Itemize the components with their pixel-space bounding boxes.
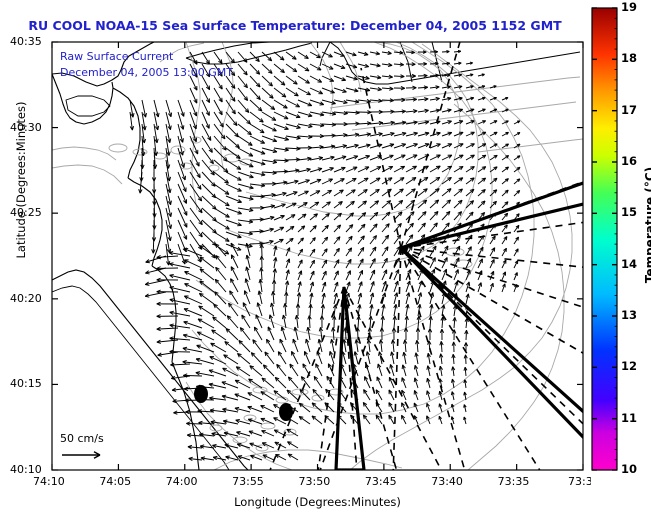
x-tick-label: 74:05 [99, 475, 131, 488]
current-vector-head [146, 262, 150, 263]
current-vector-head [366, 144, 370, 145]
current-vector-head [318, 168, 322, 169]
x-tick-label: 73:55 [232, 475, 264, 488]
current-vector-head [517, 156, 520, 157]
current-vector [322, 135, 336, 136]
annotation-line-2: December 04, 2005 13:00 GMT [60, 66, 233, 79]
annotation-line-1: Raw Surface Current [60, 50, 173, 63]
current-vector-head [222, 85, 223, 89]
y-tick-label: 40:15 [10, 377, 42, 390]
current-vector [183, 375, 202, 376]
y-tick-label: 40:35 [10, 35, 42, 48]
station-marker [194, 385, 208, 403]
current-vector-head [212, 148, 213, 152]
current-vector-head [412, 177, 416, 178]
current-vector-head [425, 132, 429, 133]
colorbar-label: Temperature (°C) [643, 10, 651, 440]
x-tick-label: 73:45 [365, 475, 397, 488]
current-vector [286, 159, 300, 160]
current-vector-head [327, 376, 328, 380]
current-vector-head [230, 291, 231, 295]
x-tick-label: 73:40 [431, 475, 463, 488]
y-axis-label: Latitude (Degrees:Minutes) [14, 0, 28, 400]
current-vector-head [447, 109, 451, 110]
current-vector-head [400, 178, 404, 179]
current-vector-head [183, 125, 184, 129]
y-tick-label: 40:25 [10, 206, 42, 219]
figure-root: RU COOL NOAA-15 Sea Surface Temperature:… [0, 0, 651, 519]
colorbar-tick-label: 12 [621, 359, 637, 373]
current-vector-head [223, 123, 224, 127]
current-vector-head [459, 97, 463, 98]
colorbar-tick-label: 16 [621, 154, 637, 168]
current-vector-head [505, 155, 508, 156]
current-vector-head [342, 156, 346, 157]
current-vector-head [414, 365, 415, 369]
station-marker [279, 403, 293, 421]
colorbar-tick-label: 18 [621, 51, 637, 65]
colorbar-tick-label: 14 [621, 257, 637, 271]
current-vector-head [447, 121, 451, 122]
scale-bar-label: 50 cm/s [60, 432, 104, 445]
current-vector-head [376, 415, 377, 419]
y-tick-label: 40:10 [10, 463, 42, 476]
current-vector-head [306, 339, 307, 343]
current-vector-head [376, 178, 380, 179]
y-tick-label: 40:20 [10, 292, 42, 305]
y-tick-label: 40:30 [10, 121, 42, 134]
current-vector-head [427, 378, 428, 382]
colorbar-tick-label: 10 [621, 462, 637, 476]
current-vector-head [200, 185, 201, 189]
current-vector-head [413, 132, 417, 133]
x-axis-label: Longitude (Degrees:Minutes) [52, 495, 583, 509]
current-vector-head [171, 113, 172, 117]
current-vector-head [402, 365, 403, 369]
current-vector-head [470, 62, 473, 63]
current-vector-head [339, 190, 343, 191]
x-tick-label: 74:10 [33, 475, 65, 488]
current-vector-head [184, 163, 185, 167]
current-vector-head [209, 60, 210, 64]
current-vector-head [470, 74, 473, 75]
current-vector-head [364, 390, 365, 394]
colorbar-tick-label: 19 [621, 0, 637, 14]
current-vector-head [451, 404, 452, 407]
colorbar-tick-label: 13 [621, 308, 637, 322]
current-vector-head [269, 228, 273, 229]
current-vector-head [470, 166, 474, 167]
current-vector-head [439, 391, 440, 395]
x-tick-label: 74:00 [166, 475, 198, 488]
current-vector-head [246, 243, 247, 247]
colorbar-tick-label: 15 [621, 205, 637, 219]
current-vector-head [464, 404, 465, 407]
current-vector-head [246, 267, 247, 271]
x-tick-label: 73:50 [299, 475, 331, 488]
current-vector-head [278, 352, 279, 356]
colorbar-tick-label: 17 [621, 103, 637, 117]
current-vector-head [242, 315, 243, 319]
current-vector-head [459, 166, 463, 167]
current-vector-head [482, 155, 486, 156]
current-vector-head [494, 155, 498, 156]
x-tick-label: 73:35 [498, 475, 530, 488]
current-vector-head [388, 178, 392, 179]
plot-background [52, 42, 583, 470]
colorbar-tick-label: 11 [621, 411, 637, 425]
current-vector-head [470, 86, 473, 87]
x-tick-label: 73:30 [568, 475, 591, 488]
colorbar-gradient-bar [592, 8, 617, 470]
